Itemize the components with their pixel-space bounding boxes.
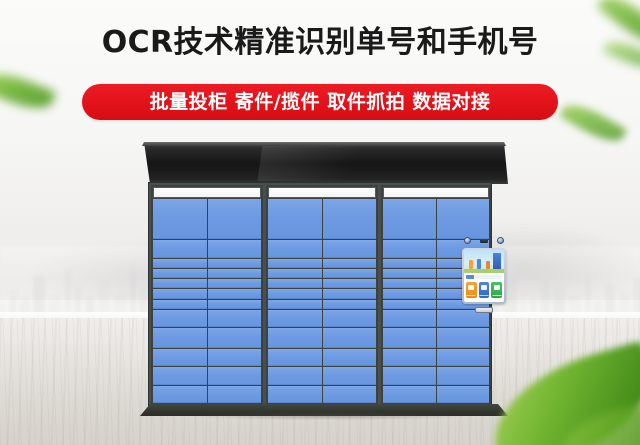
locker-door[interactable]: [383, 386, 436, 403]
promo-banner-image: OCR技术精准识别单号和手机号 批量投柜 寄件/揽件 取件抓拍 数据对接: [0, 0, 640, 445]
locker-row: [383, 328, 489, 347]
locker-door[interactable]: [323, 300, 377, 309]
locker-door[interactable]: [323, 349, 377, 366]
locker-door[interactable]: [383, 300, 436, 309]
canopy-edge: [142, 142, 506, 146]
send-icon: [494, 285, 500, 290]
locker-row: [383, 349, 489, 366]
ir-sensor-icon: [480, 239, 488, 243]
locker-door[interactable]: [268, 240, 322, 257]
locker-row: [153, 386, 261, 403]
locker-door[interactable]: [268, 289, 322, 298]
locker-door[interactable]: [208, 279, 262, 288]
locker-row: [268, 349, 376, 366]
camera-left-icon: [464, 237, 471, 244]
locker-row: [268, 310, 376, 327]
locker-door[interactable]: [153, 328, 207, 347]
locker-door[interactable]: [383, 289, 436, 298]
locker-canopy: [140, 142, 508, 184]
locker-row: [268, 386, 376, 403]
locker-row: [268, 259, 376, 268]
locker-door[interactable]: [208, 328, 262, 347]
locker-door[interactable]: [437, 199, 490, 239]
locker-door[interactable]: [323, 199, 377, 239]
locker-row: [153, 349, 261, 366]
locker-door[interactable]: [383, 328, 436, 347]
locker-row: [153, 279, 261, 288]
screen-hero-illustration: [464, 250, 504, 273]
locker-door[interactable]: [437, 328, 490, 347]
parcel-icon: [468, 285, 474, 290]
screen-action-buttons[interactable]: [466, 282, 502, 298]
locker-ground-shadow: [130, 410, 526, 422]
locker-door[interactable]: [153, 386, 207, 403]
locker-column-center: [266, 185, 378, 405]
screen-info-bar: [466, 275, 502, 279]
locker-door[interactable]: [383, 349, 436, 366]
send-button[interactable]: [491, 282, 502, 298]
locker-row: [153, 259, 261, 268]
locker-door[interactable]: [268, 310, 322, 327]
locker-body: [148, 182, 492, 406]
locker-row: [153, 240, 261, 257]
column-header-left: [153, 187, 261, 198]
pickup-button[interactable]: [479, 282, 490, 298]
locker-door[interactable]: [268, 199, 322, 239]
locker-door[interactable]: [268, 367, 322, 384]
features-banner: 批量投柜 寄件/揽件 取件抓拍 数据对接: [82, 84, 558, 120]
hero-person-icon: [477, 259, 481, 269]
locker-door[interactable]: [153, 240, 207, 257]
locker-door[interactable]: [437, 349, 490, 366]
locker-door[interactable]: [383, 367, 436, 384]
locker-row: [268, 328, 376, 347]
locker-door[interactable]: [437, 367, 490, 384]
locker-row: [153, 289, 261, 298]
hero-person-icon: [486, 261, 490, 269]
locker-row: [268, 289, 376, 298]
locker-door[interactable]: [323, 310, 377, 327]
locker-row: [268, 199, 376, 239]
locker-door[interactable]: [208, 349, 262, 366]
button-label: [492, 295, 501, 296]
locker-row: [383, 386, 489, 403]
locker-door[interactable]: [323, 240, 377, 257]
locker-door[interactable]: [208, 259, 262, 268]
card-tray[interactable]: [475, 307, 493, 313]
smart-parcel-locker: [140, 142, 510, 414]
locker-door[interactable]: [383, 199, 436, 239]
camera-right-icon: [497, 237, 504, 244]
locker-door[interactable]: [323, 259, 377, 268]
locker-row: [153, 310, 261, 327]
locker-door[interactable]: [383, 310, 436, 327]
locker-door[interactable]: [437, 386, 490, 403]
locker-door[interactable]: [153, 279, 207, 288]
locker-row: [153, 300, 261, 309]
locker-door[interactable]: [208, 269, 262, 278]
locker-door[interactable]: [153, 289, 207, 298]
locker-row: [268, 367, 376, 384]
locker-door[interactable]: [323, 328, 377, 347]
locker-door[interactable]: [383, 240, 436, 257]
locker-door[interactable]: [208, 367, 262, 384]
locker-door[interactable]: [208, 289, 262, 298]
locker-row: [153, 269, 261, 278]
locker-row: [383, 199, 489, 239]
locker-column-left: [151, 185, 263, 405]
locker-door[interactable]: [208, 300, 262, 309]
touchscreen-terminal[interactable]: [462, 237, 506, 315]
column-header-right: [383, 187, 489, 198]
box-icon: [481, 285, 487, 290]
door-grid-left[interactable]: [153, 199, 261, 403]
locker-door[interactable]: [153, 367, 207, 384]
locker-door[interactable]: [383, 259, 436, 268]
locker-door[interactable]: [153, 310, 207, 327]
locker-door[interactable]: [323, 386, 377, 403]
locker-row: [268, 269, 376, 278]
locker-door[interactable]: [153, 349, 207, 366]
locker-door[interactable]: [208, 386, 262, 403]
locker-row: [153, 199, 261, 239]
button-label: [467, 295, 476, 296]
terminal-screen[interactable]: [464, 250, 504, 302]
locker-row: [268, 240, 376, 257]
locker-door[interactable]: [323, 279, 377, 288]
locker-door[interactable]: [323, 367, 377, 384]
locker-row: [153, 328, 261, 347]
locker-door[interactable]: [153, 269, 207, 278]
locker-door[interactable]: [153, 300, 207, 309]
locker-row: [383, 367, 489, 384]
locker-door[interactable]: [268, 269, 322, 278]
locker-door[interactable]: [323, 289, 377, 298]
deposit-button[interactable]: [466, 282, 477, 298]
canopy-highlight: [257, 145, 392, 181]
locker-row: [268, 300, 376, 309]
locker-row: [268, 279, 376, 288]
locker-door[interactable]: [383, 279, 436, 288]
locker-door[interactable]: [153, 259, 207, 268]
locker-door[interactable]: [268, 349, 322, 366]
locker-door[interactable]: [153, 199, 207, 239]
terminal-screen-frame: [462, 248, 506, 304]
page-title: OCR技术精准识别单号和手机号: [0, 26, 640, 60]
door-grid-center[interactable]: [268, 199, 376, 403]
locker-door[interactable]: [208, 240, 262, 257]
hero-ground: [464, 269, 504, 273]
locker-door[interactable]: [323, 269, 377, 278]
features-banner-label: 批量投柜 寄件/揽件 取件抓拍 数据对接: [82, 84, 558, 120]
column-header-center: [268, 187, 376, 198]
locker-door[interactable]: [268, 386, 322, 403]
hero-person-icon: [469, 260, 473, 269]
locker-door[interactable]: [208, 199, 262, 239]
locker-door[interactable]: [268, 328, 322, 347]
locker-door[interactable]: [268, 259, 322, 268]
locker-door[interactable]: [208, 310, 262, 327]
locker-door[interactable]: [383, 269, 436, 278]
locker-row: [153, 367, 261, 384]
locker-door[interactable]: [268, 279, 322, 288]
locker-door[interactable]: [268, 300, 322, 309]
button-label: [480, 295, 489, 296]
